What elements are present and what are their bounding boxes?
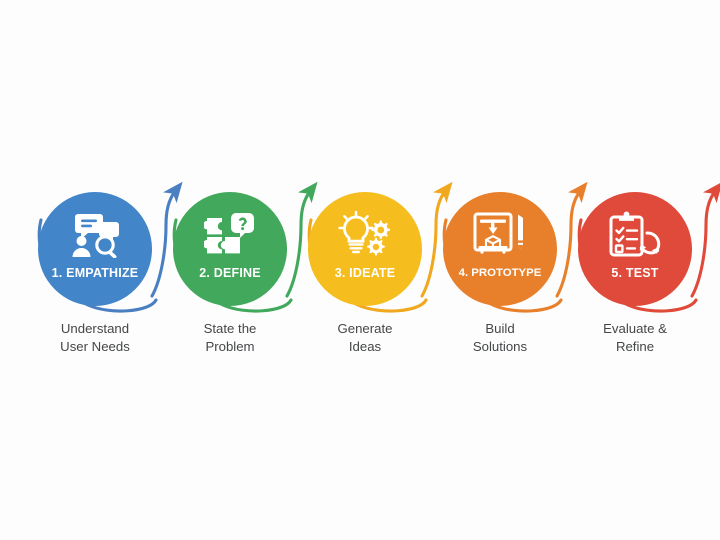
caption-line-2: Refine: [560, 338, 710, 356]
caption-line-1: Evaluate &: [560, 320, 710, 338]
caption-line-1: Understand: [20, 320, 170, 338]
stage-caption-prototype: Build Solutions: [425, 320, 575, 355]
caption-line-2: User Needs: [20, 338, 170, 356]
caption-line-2: Ideas: [290, 338, 440, 356]
speech-bubbles-person-magnifier-icon: [38, 206, 152, 264]
stage-define[interactable]: 2. DEFINE State the Problem: [173, 192, 289, 357]
caption-line-1: Build: [425, 320, 575, 338]
pencil: [518, 215, 524, 250]
clipboard-checklist-refresh-icon: [578, 206, 692, 264]
caption-line-1: State the: [155, 320, 305, 338]
stage-ideate[interactable]: 3. IDEATE Generate Ideas: [308, 192, 424, 357]
3d-printer-pencil-icon: [443, 206, 557, 264]
stage-caption-test: Evaluate & Refine: [560, 320, 710, 355]
caption-line-1: Generate: [290, 320, 440, 338]
puzzle-pieces-question-icon: [173, 206, 287, 264]
stage-label-test: 5. TEST: [578, 266, 692, 280]
stage-test[interactable]: 5. TEST Evaluate & Refine: [578, 192, 694, 357]
design-thinking-diagram: 1. EMPATHIZE Understand User Needs: [0, 0, 720, 540]
stage-caption-empathize: Understand User Needs: [20, 320, 170, 355]
stage-label-define: 2. DEFINE: [173, 266, 287, 280]
caption-line-2: Problem: [155, 338, 305, 356]
stage-caption-ideate: Generate Ideas: [290, 320, 440, 355]
stage-label-ideate: 3. IDEATE: [308, 266, 422, 280]
stage-caption-define: State the Problem: [155, 320, 305, 355]
lightbulb-gears-icon: [308, 206, 422, 264]
stage-label-empathize: 1. EMPATHIZE: [38, 266, 152, 280]
caption-line-2: Solutions: [425, 338, 575, 356]
stage-prototype[interactable]: 4. PROTOTYPE Build Solutions: [443, 192, 559, 357]
stage-empathize[interactable]: 1. EMPATHIZE Understand User Needs: [38, 192, 154, 357]
stage-label-prototype: 4. PROTOTYPE: [443, 266, 557, 280]
